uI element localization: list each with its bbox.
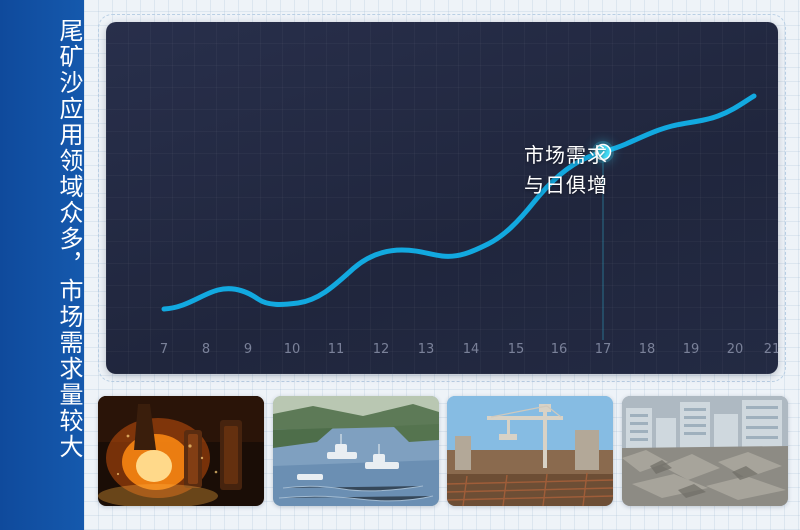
banner-title: 尾矿沙应用领域众多，市场需求量较大: [0, 18, 84, 518]
trend-chart-card: 市场需求 与日俱增 7 8 9 10 11 12 13 14 15 16 17 …: [106, 22, 778, 374]
photo-strip: [98, 396, 788, 512]
photo-demolition-rubble-city: [622, 396, 788, 506]
chart-annotation: 市场需求 与日俱增: [524, 140, 608, 200]
trend-line-path: [164, 96, 754, 309]
photo-molten-steel-pouring: [98, 396, 264, 506]
x-tick: 19: [683, 342, 700, 358]
x-tick: 13: [418, 342, 435, 358]
x-tick: 12: [373, 342, 390, 358]
x-tick: 20: [727, 342, 744, 358]
x-tick: 18: [639, 342, 656, 358]
photo-river-dredging-barges: [273, 396, 439, 506]
x-tick: 14: [463, 342, 480, 358]
content-stage: 市场需求 与日俱增 7 8 9 10 11 12 13 14 15 16 17 …: [84, 0, 800, 530]
x-tick: 21: [764, 342, 778, 358]
x-tick: 11: [328, 342, 345, 358]
x-tick: 15: [508, 342, 525, 358]
x-tick: 16: [551, 342, 568, 358]
x-tick: 10: [284, 342, 301, 358]
x-axis-ticks: 7 8 9 10 11 12 13 14 15 16 17 18 19 20 2…: [106, 342, 778, 360]
left-banner: 尾矿沙应用领域众多，市场需求量较大: [0, 0, 84, 530]
x-tick: 7: [160, 342, 168, 358]
x-tick: 9: [244, 342, 252, 358]
line-chart-plot: [106, 22, 778, 374]
photo-construction-site-crane: [447, 396, 613, 506]
x-tick: 17: [595, 342, 612, 358]
x-tick: 8: [202, 342, 210, 358]
